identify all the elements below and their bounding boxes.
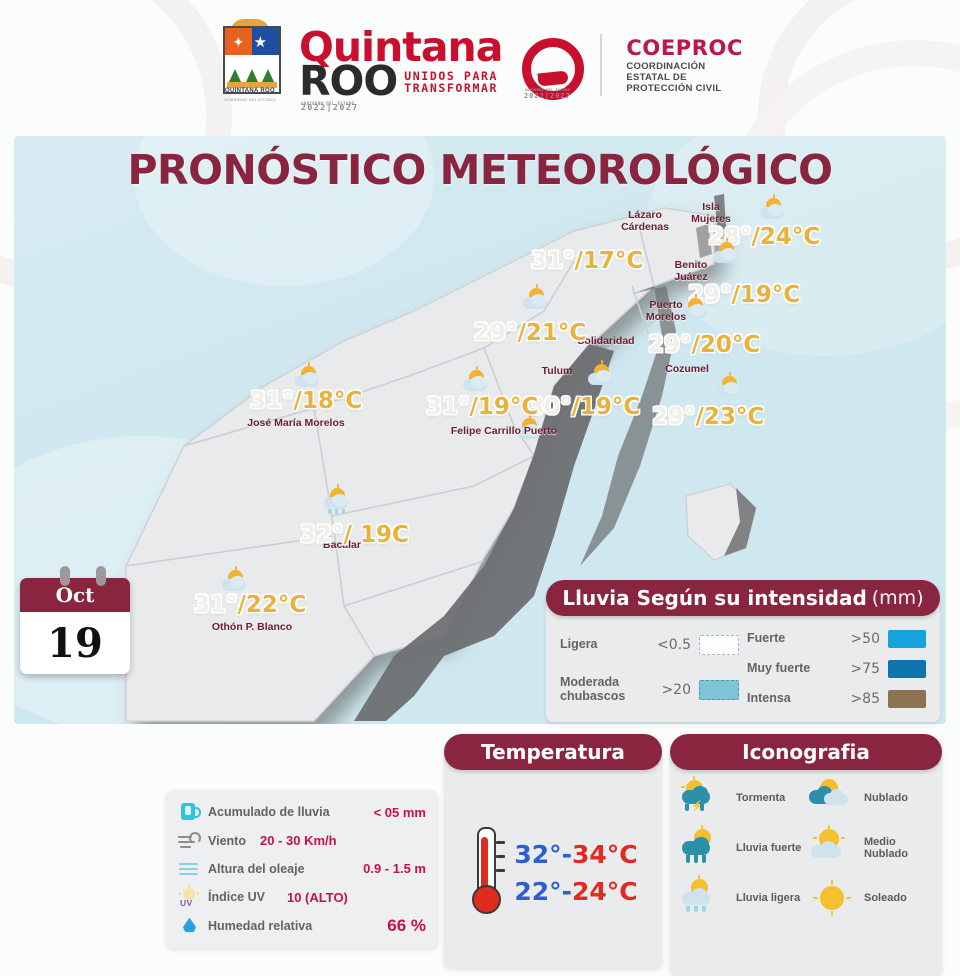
iconografia-panel: Iconografia ⚡ Tormenta — [670, 734, 942, 976]
quintana-roo-wordmark: Quintana ROO UNIDOS PARA TRANSFORMAR GOB… — [299, 31, 502, 98]
coeproc-title: COEPROC — [626, 36, 743, 61]
condition-row-wind: Viento 20 - 30 Km/h — [178, 831, 426, 851]
temp-solidaridad: 29°/21°C — [474, 320, 586, 346]
rain-legend-row: Moderada chubascos >20 — [560, 676, 739, 704]
weather-icon-bacalar — [322, 488, 356, 520]
condition-label: Índice UV — [208, 890, 265, 904]
soleado-icon — [808, 878, 858, 918]
calendar-day: 19 — [20, 612, 130, 674]
date-calendar: Oct 19 — [20, 572, 130, 674]
temp-puerto-morelos: 29°/20°C — [648, 332, 760, 358]
rain-swatch-intensa — [888, 690, 926, 708]
temp-lazaro-cardenas: 31°/17°C — [531, 248, 643, 274]
rain-legend-value: >75 — [838, 661, 880, 677]
coeproc-sub-3: PROTECCIÓN CIVIL — [626, 83, 743, 94]
nublado-icon — [808, 778, 858, 818]
rain-legend-row: Ligera <0.5 — [560, 635, 739, 655]
wind-icon — [178, 831, 200, 851]
coeproc-sub-2: ESTATAL DE — [626, 72, 743, 83]
temperature-max-range: 32°-34°C — [514, 840, 637, 869]
medio-nublado-icon — [808, 828, 858, 868]
temp-felipe-carrillo-puerto: 31°/19°C — [426, 394, 538, 420]
weather-icon-isla-mujeres — [758, 198, 792, 224]
city-label-tulum: Tulum — [522, 366, 592, 378]
rain-legend-value: >85 — [838, 691, 880, 707]
condition-label: Humedad relativa — [208, 919, 312, 933]
condition-value: < 05 mm — [374, 805, 426, 820]
rain-gauge-icon — [178, 802, 200, 822]
rain-swatch-moderada — [699, 680, 739, 700]
legend-item-soleado: Soleado — [808, 878, 932, 918]
city-label-isla-mujeres: Isla Mujeres — [668, 202, 754, 226]
condition-row-rain-accumulation: Acumulado de lluvia < 05 mm — [178, 802, 426, 822]
temp-othon-p-blanco: 31°/22°C — [194, 592, 306, 618]
shield-subcaption: GOBIERNO DEL ESTADO — [217, 97, 283, 102]
rain-legend-row: Muy fuerte >75 — [747, 660, 926, 678]
tormenta-icon: ⚡ — [680, 778, 730, 818]
rain-legend-value: <0.5 — [649, 637, 691, 653]
legend-label: Nublado — [864, 792, 908, 804]
rain-legend-row: Fuerte >50 — [747, 630, 926, 648]
rain-legend-left-column: Ligera <0.5 Moderada chubascos >20 — [560, 630, 739, 708]
condition-label: Altura del oleaje — [208, 862, 305, 876]
shield-caption: QUINTANA ROO — [217, 88, 283, 94]
waves-icon — [178, 859, 200, 879]
condition-value: 66 % — [387, 916, 426, 936]
rain-intensity-title: Lluvia Según su intensidad(mm) — [546, 580, 940, 616]
rain-legend-value: >20 — [649, 682, 691, 698]
rain-intensity-panel: Lluvia Según su intensidad(mm) Ligera <0… — [546, 580, 940, 722]
iconografia-title: Iconografia — [670, 734, 942, 770]
rain-swatch-ligera — [699, 635, 739, 655]
condition-row-humidity: Humedad relativa 66 % — [178, 916, 426, 936]
rain-legend-label: Fuerte — [747, 632, 830, 646]
legend-item-lluvia-fuerte: Lluvia fuerte — [680, 828, 804, 868]
city-label-puerto-morelos: Puerto Morelos — [623, 300, 709, 324]
rain-legend-label: Moderada chubascos — [560, 676, 641, 704]
rain-swatch-muy-fuerte — [888, 660, 926, 678]
lluvia-ligera-icon — [680, 878, 730, 918]
condition-value: 0.9 - 1.5 m — [363, 861, 426, 876]
legend-item-lluvia-ligera: Lluvia ligera — [680, 878, 804, 918]
city-label-benito-juarez: Benito Juárez — [648, 260, 734, 284]
rain-legend-label: Ligera — [560, 638, 641, 652]
condition-row-uv-index: UV Índice UV 10 (ALTO) — [178, 887, 426, 907]
quintana-roo-shield-icon: ✦ ★ QUINTANA ROO GOBIERNO DEL ESTADO — [217, 24, 283, 106]
rain-unit: (mm) — [872, 587, 924, 609]
rain-legend-value: >50 — [838, 631, 880, 647]
weather-icon-lazaro-cardenas — [521, 288, 555, 314]
coeproc-block: COEPROC COORDINACIÓN ESTATAL DE PROTECCI… — [626, 36, 743, 94]
brand-tagline-2: TRANSFORMAR — [404, 83, 498, 95]
coeproc-sub-1: COORDINACIÓN — [626, 61, 743, 72]
city-label-cozumel: Cozumel — [642, 364, 732, 376]
brand-line-2: ROO — [299, 65, 397, 99]
calendar-ring — [60, 566, 70, 586]
temperature-min-range: 22°-24°C — [514, 877, 637, 906]
coeproc-q-logo-icon: GOBIERNO DEL ESTADO 2022|2027 — [518, 36, 576, 94]
calendar-month: Oct — [56, 583, 95, 607]
brand-years: GOBIERNO DEL ESTADO 2022|2027 — [301, 102, 359, 112]
legend-label: Soleado — [864, 892, 907, 904]
uv-icon: UV — [178, 887, 200, 907]
calendar-ring — [96, 566, 106, 586]
legend-item-tormenta: ⚡ Tormenta — [680, 778, 804, 818]
condition-value: 10 (ALTO) — [287, 890, 348, 905]
logo-years: GOBIERNO DEL ESTADO 2022|2027 — [518, 88, 576, 100]
temp-bacalar: 32°/ 19C — [300, 522, 409, 548]
legend-label: Tormenta — [736, 792, 785, 804]
lluvia-fuerte-icon — [680, 828, 730, 868]
temp-jose-maria-morelos: 31°/18°C — [250, 388, 362, 414]
rain-legend-label: Intensa — [747, 692, 830, 706]
temp-cozumel: 29°/23°C — [652, 404, 764, 430]
legend-label: Lluvia ligera — [736, 892, 800, 904]
city-label-felipe-carrillo-puerto: Felipe Carrillo Puerto — [424, 426, 584, 438]
condition-row-wave-height: Altura del oleaje 0.9 - 1.5 m — [178, 859, 426, 879]
condition-label: Viento — [208, 834, 246, 848]
conditions-panel: Acumulado de lluvia < 05 mm Viento 20 - … — [166, 790, 438, 948]
city-label-jose-maria-morelos: José María Morelos — [226, 418, 366, 430]
legend-label: Medio Nublado — [864, 836, 908, 861]
weather-icon-cozumel — [714, 376, 748, 402]
rain-legend-row: Intensa >85 — [747, 690, 926, 708]
header-divider — [600, 34, 602, 96]
temperature-title: Temperatura — [444, 734, 662, 770]
rain-swatch-fuerte — [888, 630, 926, 648]
condition-label: Acumulado de lluvia — [208, 805, 330, 819]
legend-label: Lluvia fuerte — [736, 842, 801, 854]
rain-legend-label: Muy fuerte — [747, 662, 830, 676]
condition-value: 20 - 30 Km/h — [260, 833, 337, 848]
thermometer-icon — [468, 827, 502, 919]
humidity-icon — [178, 916, 200, 936]
weather-icon-felipe-carrillo-puerto — [461, 370, 495, 396]
temp-tulum: 30°/19°C — [528, 394, 640, 420]
legend-item-nublado: Nublado — [808, 778, 932, 818]
header-logos: ✦ ★ QUINTANA ROO GOBIERNO DEL ESTADO Qui… — [0, 0, 960, 130]
legend-item-medio-nublado: Medio Nublado — [808, 828, 932, 868]
temperature-panel: Temperatura 32°-34°C 22°-24°C — [444, 734, 662, 968]
city-label-othon-p-blanco: Othón P. Blanco — [192, 622, 312, 634]
rain-legend-right-column: Fuerte >50 Muy fuerte >75 Intensa >85 — [747, 630, 926, 708]
